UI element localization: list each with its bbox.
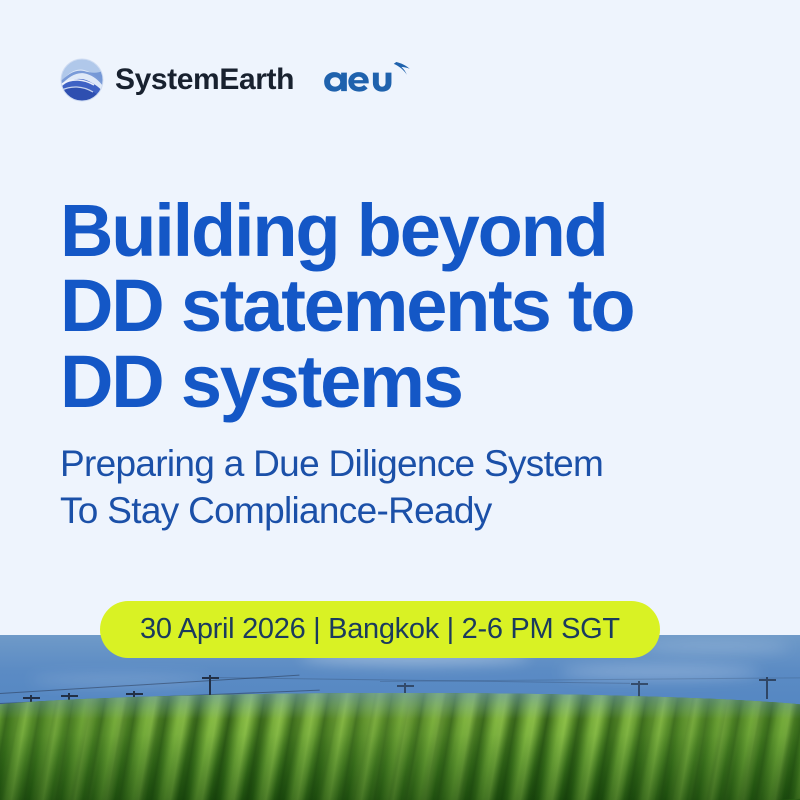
crop-rows-secondary bbox=[0, 693, 800, 800]
subtitle-line-2: To Stay Compliance-Ready bbox=[60, 487, 760, 534]
event-details-badge: 30 April 2026 | Bangkok | 2-6 PM SGT bbox=[100, 601, 660, 658]
event-promo-poster: SystemEarth Building beyond DD statement… bbox=[0, 0, 800, 800]
headline-line-2: DD statements to bbox=[60, 268, 750, 343]
page-subtitle: Preparing a Due Diligence System To Stay… bbox=[60, 440, 760, 535]
systemearth-globe-icon bbox=[60, 58, 104, 102]
logo-row: SystemEarth bbox=[60, 57, 416, 103]
headline-line-1: Building beyond bbox=[60, 193, 750, 268]
cloud-wisp bbox=[560, 665, 760, 679]
cloud-wisp bbox=[640, 641, 790, 653]
page-title: Building beyond DD statements to DD syst… bbox=[60, 193, 750, 419]
systemearth-brand[interactable]: SystemEarth bbox=[60, 58, 294, 102]
crop-field-photograph bbox=[0, 635, 800, 800]
crop-field bbox=[0, 693, 800, 800]
systemearth-wordmark: SystemEarth bbox=[115, 65, 294, 95]
aeu-logo[interactable] bbox=[320, 57, 416, 103]
subtitle-line-1: Preparing a Due Diligence System bbox=[60, 440, 760, 487]
headline-line-3: DD systems bbox=[60, 344, 750, 419]
cloud-wisp bbox=[30, 675, 210, 685]
